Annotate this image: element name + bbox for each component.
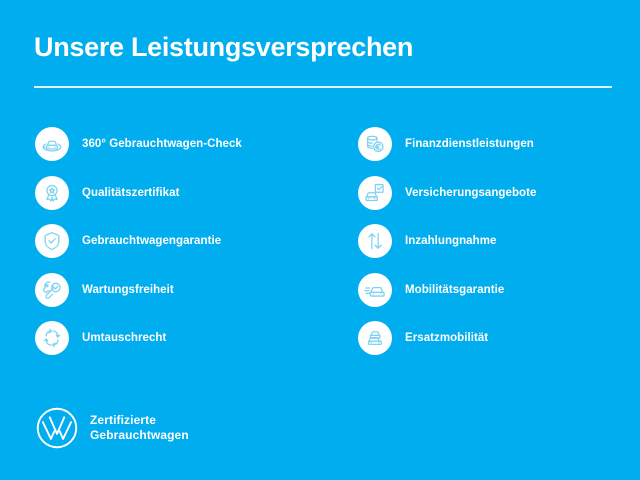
feature-item-wartungsfreiheit[interactable]: Wartungsfreiheit bbox=[35, 273, 325, 322]
feature-label: Qualitätszertifikat bbox=[82, 176, 179, 210]
shield-check-icon bbox=[35, 224, 69, 258]
feature-label: Ersatzmobilität bbox=[405, 321, 488, 355]
award-rosette-icon bbox=[35, 176, 69, 210]
feature-item-mobilitaetsgarantie[interactable]: Mobilitätsgarantie bbox=[358, 273, 640, 322]
car-360-check-icon bbox=[35, 127, 69, 161]
feature-label: Inzahlungnahme bbox=[405, 224, 496, 258]
feature-item-finanzdienstleistungen[interactable]: Finanzdienstleistungen bbox=[358, 127, 640, 176]
volkswagen-logo-icon bbox=[35, 406, 79, 450]
feature-item-360-check[interactable]: 360° Gebrauchtwagen-Check bbox=[35, 127, 325, 176]
footer-brand: Zertifizierte Gebrauchtwagen bbox=[35, 406, 189, 450]
car-document-icon bbox=[358, 176, 392, 210]
footer-brand-text: Zertifizierte Gebrauchtwagen bbox=[90, 413, 189, 444]
exchange-arrows-icon bbox=[35, 321, 69, 355]
feature-label: Umtauschrecht bbox=[82, 321, 166, 355]
coins-euro-icon bbox=[358, 127, 392, 161]
footer-line-2: Gebrauchtwagen bbox=[90, 428, 189, 444]
up-down-arrows-icon bbox=[358, 224, 392, 258]
features-column-left: 360° Gebrauchtwagen-Check Qualitätszerti… bbox=[35, 127, 325, 370]
feature-label: Finanzdienstleistungen bbox=[405, 127, 534, 161]
feature-item-ersatzmobilitaet[interactable]: Ersatzmobilität bbox=[358, 321, 640, 370]
feature-label: Versicherungsangebote bbox=[405, 176, 536, 210]
feature-item-versicherungsangebote[interactable]: Versicherungsangebote bbox=[358, 176, 640, 225]
footer-line-1: Zertifizierte bbox=[90, 413, 189, 429]
feature-item-inzahlungnahme[interactable]: Inzahlungnahme bbox=[358, 224, 640, 273]
page-title: Unsere Leistungsversprechen bbox=[34, 30, 413, 64]
feature-label: Wartungsfreiheit bbox=[82, 273, 174, 307]
title-divider bbox=[34, 86, 612, 88]
two-cars-icon bbox=[358, 321, 392, 355]
feature-label: Gebrauchtwagengarantie bbox=[82, 224, 221, 258]
feature-item-gebrauchtwagengarantie[interactable]: Gebrauchtwagengarantie bbox=[35, 224, 325, 273]
feature-label: Mobilitätsgarantie bbox=[405, 273, 504, 307]
moving-car-icon bbox=[358, 273, 392, 307]
feature-label: 360° Gebrauchtwagen-Check bbox=[82, 127, 242, 161]
features-column-right: Finanzdienstleistungen Versicherungsange… bbox=[358, 127, 640, 370]
wrench-check-icon bbox=[35, 273, 69, 307]
feature-item-qualitaetszertifikat[interactable]: Qualitätszertifikat bbox=[35, 176, 325, 225]
promise-panel: Unsere Leistungsversprechen 360° Gebrauc… bbox=[0, 0, 640, 480]
feature-item-umtauschrecht[interactable]: Umtauschrecht bbox=[35, 321, 325, 370]
